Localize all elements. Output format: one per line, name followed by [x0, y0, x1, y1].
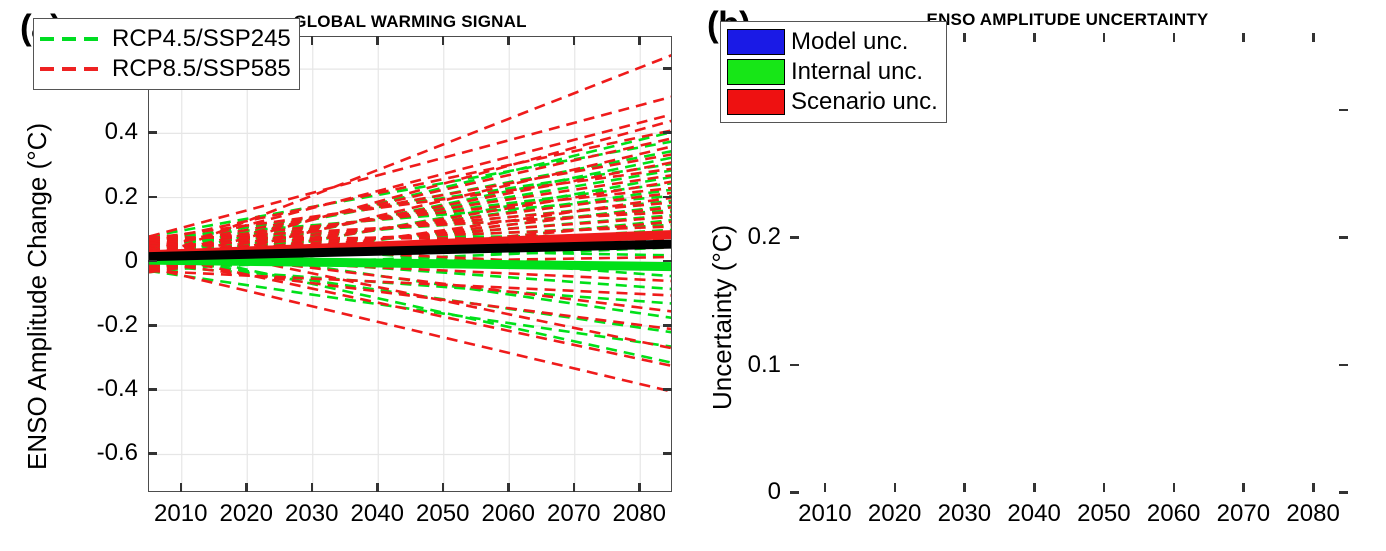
panel-a-x-tick: 2080 — [613, 500, 666, 528]
panel-b-x-tickmark — [1103, 483, 1106, 492]
panel-a-x-tickmark-top — [442, 36, 445, 45]
legend-item-scenario-unc[interactable]: Scenario unc. — [727, 87, 938, 117]
panel-b-x-tick: 2020 — [868, 500, 921, 528]
panel-a-lines — [149, 37, 672, 492]
panel-a-x-tick: 2070 — [547, 500, 600, 528]
panel-b-x-tick: 2030 — [938, 500, 991, 528]
panel-b-x-tickmark — [1173, 483, 1176, 492]
panel-b-y-tickmark-right — [1339, 236, 1348, 239]
panel-b-y-tickmark-right — [1339, 491, 1348, 494]
legend-item-internal-unc[interactable]: Internal unc. — [727, 57, 938, 87]
legend-item-label: RCP8.5/SSP585 — [112, 55, 291, 83]
panel-a-x-tickmark — [245, 483, 248, 492]
panel-a-x-tick: 2030 — [285, 500, 338, 528]
panel-a-x-tickmark — [311, 483, 314, 492]
panel-b-x-tick: 2060 — [1147, 500, 1200, 528]
panel-a-x-tick: 2050 — [416, 500, 469, 528]
panel-a-y-tick: 0.2 — [52, 183, 138, 211]
panel-a-plot-area — [148, 36, 672, 492]
panel-a-y-tick: -0.6 — [52, 439, 138, 467]
panel-a-x-tickmark — [573, 483, 576, 492]
panel-a-y-tick: 0.4 — [52, 118, 138, 146]
panel-a-legend: RCP4.5/SSP245RCP8.5/SSP585 — [33, 18, 300, 90]
panel-b-x-tick: 2040 — [1007, 500, 1060, 528]
panel-b-x-tickmark — [1242, 483, 1245, 492]
legend-item-label: Internal unc. — [791, 58, 923, 86]
panel-b-x-tickmark — [824, 483, 827, 492]
panel-a-y-tickmark — [148, 452, 157, 455]
panel-b-x-tick: 2080 — [1286, 500, 1339, 528]
panel-b-x-tickmark-top — [1242, 33, 1245, 42]
panel-a-x-tickmark-top — [638, 36, 641, 45]
panel-b-x-tickmark-top — [1033, 33, 1036, 42]
legend-item-rcp85[interactable]: RCP8.5/SSP585 — [40, 54, 291, 84]
color-swatch-icon — [727, 29, 785, 55]
panel-a-x-tickmark-top — [573, 36, 576, 45]
panel-a-y-tickmark-right — [663, 324, 672, 327]
panel-a-x-tick: 2020 — [220, 500, 273, 528]
panel-a-x-tickmark — [376, 483, 379, 492]
panel-a-y-tickmark-right — [663, 452, 672, 455]
dashed-line-swatch-icon — [40, 37, 106, 41]
color-swatch-icon — [727, 89, 785, 115]
panel-a-x-tickmark-top — [507, 36, 510, 45]
panel-a-y-tickmark — [148, 131, 157, 134]
panel-a-x-tickmark-top — [311, 36, 314, 45]
dashed-line-swatch-icon — [40, 67, 106, 71]
panel-b-y-tick: 0.1 — [701, 351, 781, 379]
panel-a-y-tick: 0 — [52, 247, 138, 275]
panel-b-x-tickmark — [963, 483, 966, 492]
panel-b-y-tickmark-right — [1339, 364, 1348, 367]
panel-b-y-tickmark — [790, 364, 799, 367]
panel-a-y-tickmark-right — [663, 196, 672, 199]
panel-a-x-tickmark-top — [376, 36, 379, 45]
panel-b-y-axis-label: Uncertainty (°C) — [707, 225, 738, 410]
panel-a-x-tickmark — [507, 483, 510, 492]
panel-a-x-tickmark — [180, 483, 183, 492]
panel-b-y-tick: 0 — [701, 478, 781, 506]
panel-a-y-tick: -0.2 — [52, 311, 138, 339]
panel-b-x-tick: 2010 — [798, 500, 851, 528]
panel-b-x-tickmark-top — [1312, 33, 1315, 42]
panel-a-y-tickmark-right — [663, 260, 672, 263]
panel-b-x-tickmark — [1312, 483, 1315, 492]
panel-a-y-tickmark-right — [663, 131, 672, 134]
panel-a-x-tick: 2060 — [482, 500, 535, 528]
panel-b-x-tickmark-top — [1173, 33, 1176, 42]
panel-b-x-tick: 2070 — [1217, 500, 1270, 528]
panel-b-y-tickmark — [790, 236, 799, 239]
panel-b-x-tickmark-top — [1103, 33, 1106, 42]
legend-item-model-unc[interactable]: Model unc. — [727, 27, 938, 57]
legend-item-label: Scenario unc. — [791, 88, 938, 116]
panel-a-x-tickmark — [442, 483, 445, 492]
panel-a: (a) GLOBAL WARMING SIGNAL ENSO Amplitude… — [0, 0, 693, 551]
panel-b-x-tickmark — [894, 483, 897, 492]
panel-a-y-tickmark — [148, 388, 157, 391]
panel-b-x-tickmark-top — [963, 33, 966, 42]
legend-item-label: Model unc. — [791, 28, 908, 56]
panel-b-x-tick: 2050 — [1077, 500, 1130, 528]
legend-item-rcp45[interactable]: RCP4.5/SSP245 — [40, 24, 291, 54]
panel-a-y-tickmark — [148, 324, 157, 327]
panel-a-y-tickmark — [148, 260, 157, 263]
panel-b: (b) ENSO AMPLITUDE UNCERTAINTY Uncertain… — [693, 0, 1386, 551]
panel-a-x-tickmark — [638, 483, 641, 492]
panel-b-y-tickmark-right — [1339, 109, 1348, 112]
panel-a-y-tickmark-right — [663, 67, 672, 70]
panel-b-y-tickmark — [790, 491, 799, 494]
panel-b-legend: Model unc.Internal unc.Scenario unc. — [720, 21, 947, 123]
panel-a-y-axis-label: ENSO Amplitude Change (°C) — [22, 123, 53, 470]
panel-b-x-tickmark — [1033, 483, 1036, 492]
panel-a-y-tickmark-right — [663, 388, 672, 391]
panel-a-x-tick: 2040 — [351, 500, 404, 528]
panel-a-y-tickmark — [148, 196, 157, 199]
color-swatch-icon — [727, 59, 785, 85]
panel-a-x-tick: 2010 — [154, 500, 207, 528]
panel-b-y-tick: 0.2 — [701, 223, 781, 251]
legend-item-label: RCP4.5/SSP245 — [112, 25, 291, 53]
panel-a-y-tick: -0.4 — [52, 375, 138, 403]
figure-root: (a) GLOBAL WARMING SIGNAL ENSO Amplitude… — [0, 0, 1386, 551]
